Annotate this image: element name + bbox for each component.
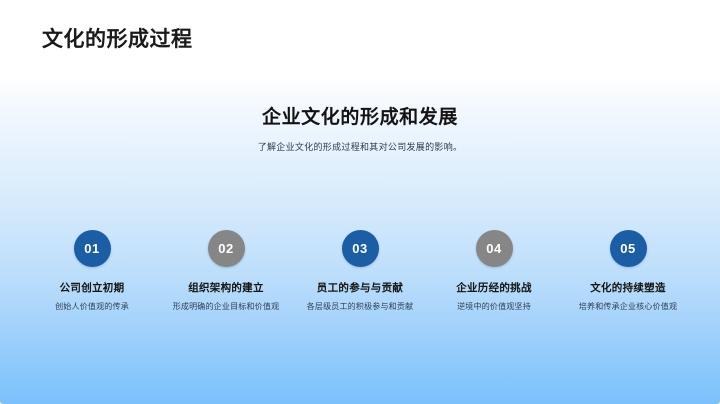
step-title: 员工的参与与贡献 xyxy=(317,281,403,295)
step-description: 各层级员工的积极参与和贡献 xyxy=(300,301,420,313)
content-panel: 企业文化的形成和发展 了解企业文化的形成过程和其对公司发展的影响。 01 公司创… xyxy=(0,80,720,404)
step-description: 形成明确的企业目标和价值观 xyxy=(166,301,286,313)
step-item-2: 02 组织架构的建立 形成明确的企业目标和价值观 xyxy=(162,230,290,313)
headline-block: 企业文化的形成和发展 了解企业文化的形成过程和其对公司发展的影响。 xyxy=(0,105,720,154)
step-title: 企业历经的挑战 xyxy=(456,281,532,295)
slide-header: 文化的形成过程 xyxy=(0,0,720,80)
step-item-5: 05 文化的持续塑造 培养和传承企业核心价值观 xyxy=(564,230,692,313)
step-item-3: 03 员工的参与与贡献 各层级员工的积极参与和贡献 xyxy=(296,230,424,313)
step-number-badge: 03 xyxy=(342,230,379,267)
step-description: 创始人价值观的传承 xyxy=(32,301,152,313)
slide-root: 文化的形成过程 企业文化的形成和发展 了解企业文化的形成过程和其对公司发展的影响… xyxy=(0,0,720,404)
main-subheadline: 了解企业文化的形成过程和其对公司发展的影响。 xyxy=(0,140,720,154)
steps-row: 01 公司创立初期 创始人价值观的传承 02 组织架构的建立 形成明确的企业目标… xyxy=(28,230,692,313)
step-title: 组织架构的建立 xyxy=(188,281,264,295)
step-description: 逆境中的价值观坚持 xyxy=(434,301,554,313)
step-title: 公司创立初期 xyxy=(60,281,125,295)
step-item-4: 04 企业历经的挑战 逆境中的价值观坚持 xyxy=(430,230,558,313)
step-item-1: 01 公司创立初期 创始人价值观的传承 xyxy=(28,230,156,313)
page-title: 文化的形成过程 xyxy=(42,27,193,53)
step-number-badge: 05 xyxy=(610,230,647,267)
main-headline: 企业文化的形成和发展 xyxy=(0,105,720,131)
step-description: 培养和传承企业核心价值观 xyxy=(568,301,688,313)
step-number-badge: 04 xyxy=(476,230,513,267)
step-number-badge: 02 xyxy=(208,230,245,267)
step-title: 文化的持续塑造 xyxy=(590,281,666,295)
step-number-badge: 01 xyxy=(74,230,111,267)
